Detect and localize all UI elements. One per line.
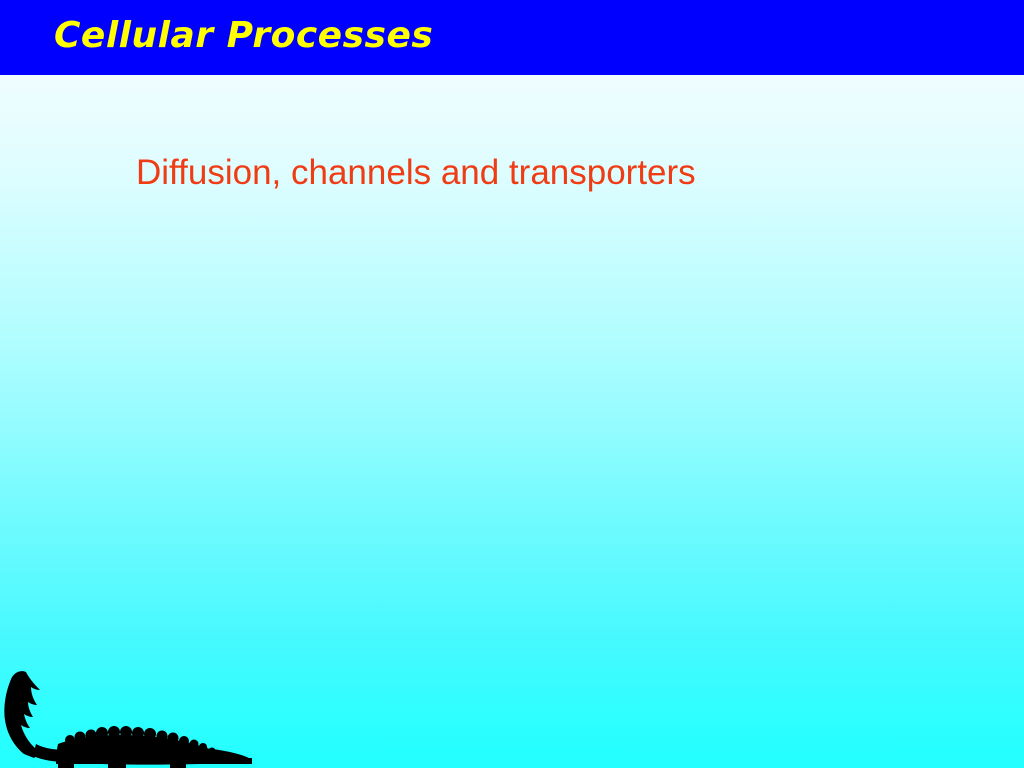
slide-header-title: Cellular Processes bbox=[54, 12, 433, 60]
slide-content-area: Diffusion, channels and transporters bbox=[0, 75, 1024, 768]
slide-header-banner: Cellular Processes bbox=[0, 0, 1024, 75]
presentation-slide: Cellular Processes Diffusion, channels a… bbox=[0, 0, 1024, 768]
slide-body-heading: Diffusion, channels and transporters bbox=[136, 151, 696, 195]
